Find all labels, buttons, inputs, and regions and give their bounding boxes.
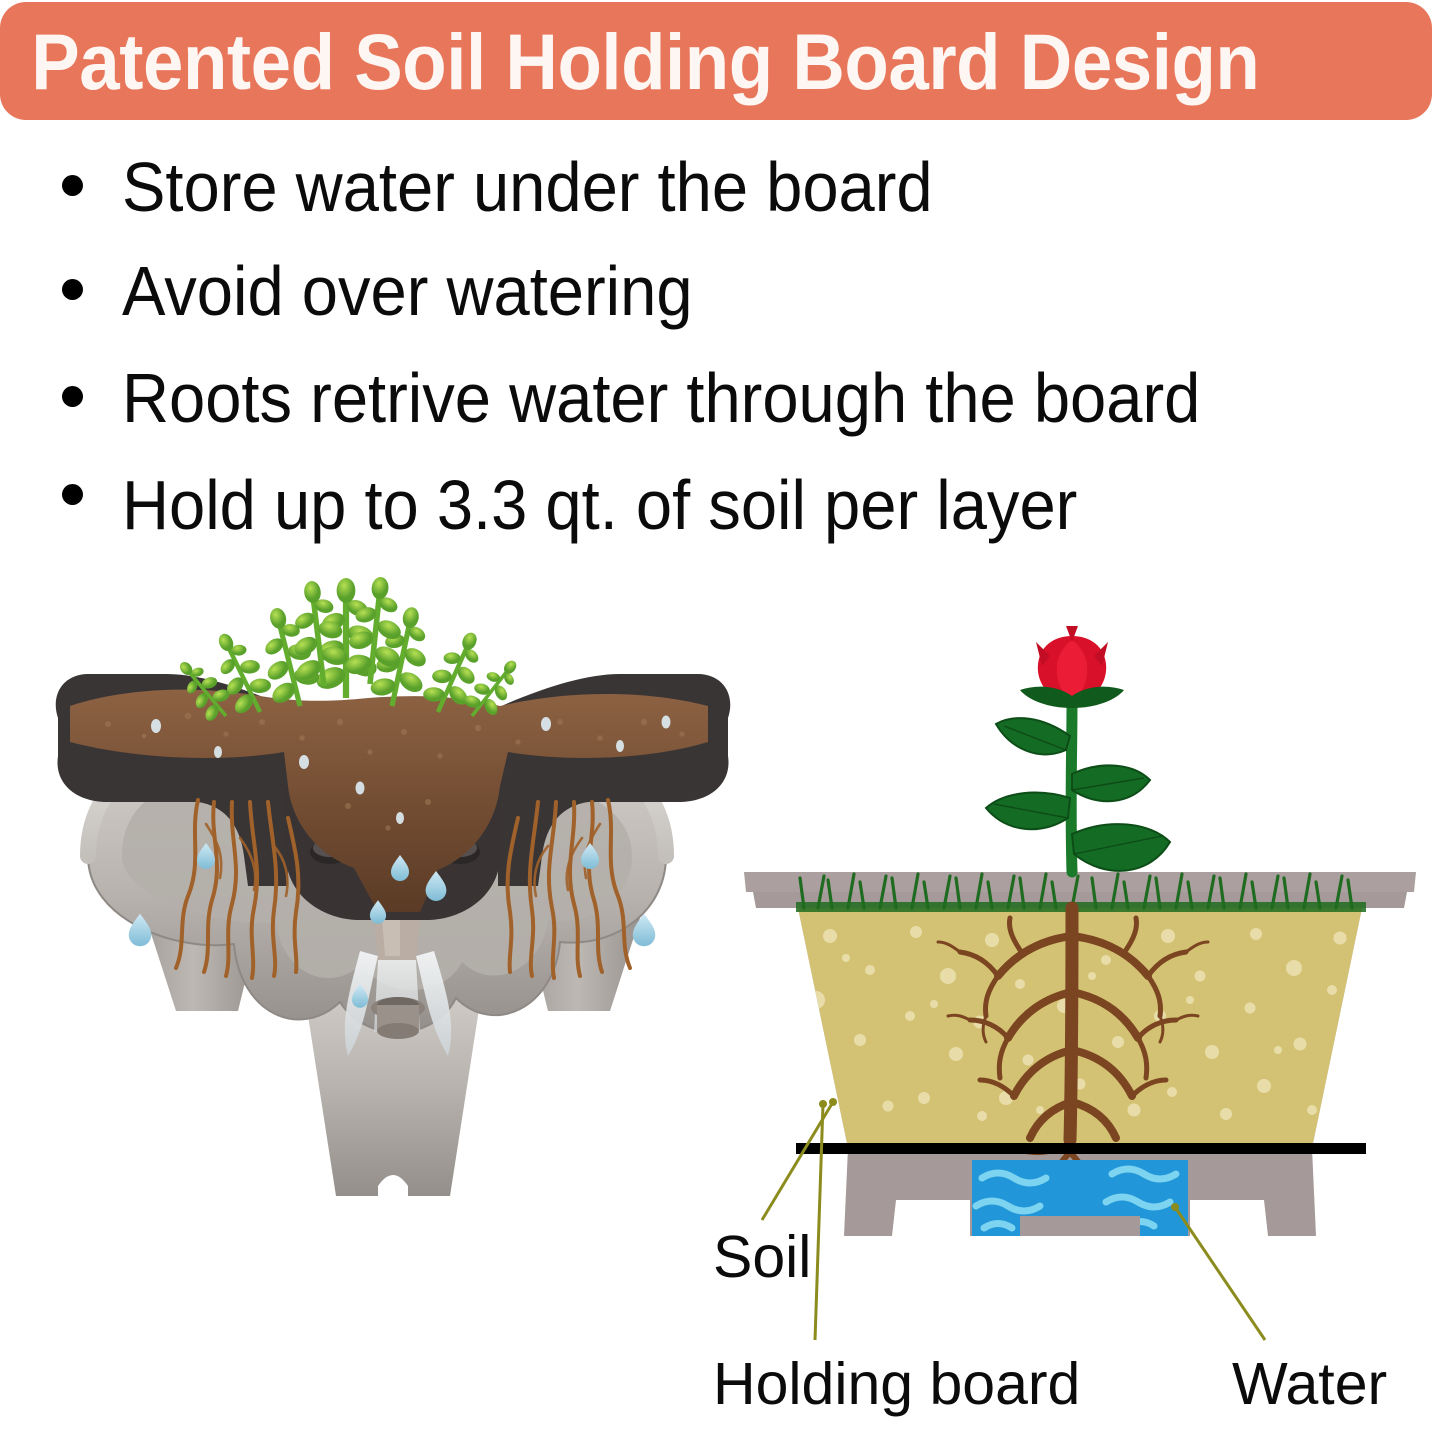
page-title: Patented Soil Holding Board Design <box>0 22 1259 101</box>
feature-text: Roots retrive water through the board <box>122 363 1200 433</box>
callout-label-holding-board: Holding board <box>713 1355 1080 1414</box>
page-title-banner: Patented Soil Holding Board Design <box>0 2 1432 120</box>
rose-bud-icon <box>1020 626 1124 708</box>
feature-list: Store water under the board Avoid over w… <box>0 132 1445 560</box>
product-photo-stacked-planter <box>48 556 738 1356</box>
bullet-point-icon <box>62 175 83 196</box>
list-item: Roots retrive water through the board <box>0 346 1445 453</box>
bullet-point-icon <box>62 484 83 505</box>
cross-section-diagram <box>720 640 1440 1430</box>
callout-label-soil: Soil <box>713 1228 811 1287</box>
list-item: Hold up to 3.3 qt. of soil per layer <box>0 453 1445 560</box>
feature-text: Avoid over watering <box>122 256 693 326</box>
feature-text: Hold up to 3.3 qt. of soil per layer <box>122 470 1077 540</box>
holding-board-line <box>796 1143 1366 1154</box>
grass-base-line <box>796 902 1366 912</box>
callout-label-water: Water <box>1232 1355 1387 1414</box>
rose-plant <box>986 626 1170 872</box>
list-item: Avoid over watering <box>0 239 1445 346</box>
list-item: Store water under the board <box>0 132 1445 239</box>
pot-cross-section-illustration <box>720 640 1440 1430</box>
bullet-point-icon <box>62 279 83 300</box>
stacked-planter-illustration <box>48 556 738 1356</box>
bullet-point-icon <box>62 386 83 407</box>
feature-text: Store water under the board <box>122 152 933 222</box>
